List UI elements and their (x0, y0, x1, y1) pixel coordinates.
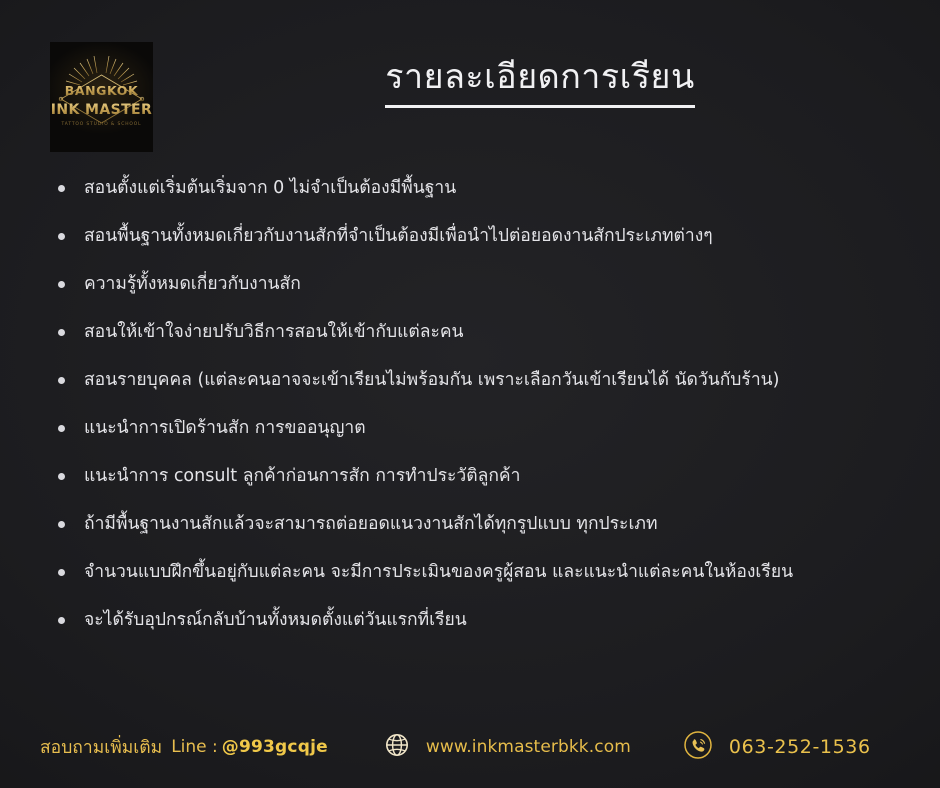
poster-footer: สอบถามเพิ่มเติม Line : @993gcqje www.ink… (0, 716, 940, 778)
bullet-dot-icon (58, 233, 65, 240)
globe-icon (384, 732, 410, 763)
logo-artwork: BANGKOK INK MASTER TATTOO STUDIO & SCHOO… (50, 42, 153, 152)
list-item: สอนรายบุคคล (แต่ละคนอาจจะเข้าเรียนไม่พร้… (52, 368, 902, 392)
list-item: สอนให้เข้าใจง่ายปรับวิธีการสอนให้เข้ากับ… (52, 320, 902, 344)
bullet-dot-icon (58, 281, 65, 288)
list-item-text: จำนวนแบบฝึกขึ้นอยู่กับแต่ละคน จะมีการประ… (84, 562, 793, 582)
bullet-dot-icon (58, 329, 65, 336)
bullet-dot-icon (58, 521, 65, 528)
bullet-dot-icon (58, 569, 65, 576)
list-item: แนะนำการ consult ลูกค้าก่อนการสัก การทำป… (52, 464, 902, 488)
list-item: ความรู้ทั้งหมดเกี่ยวกับงานสัก (52, 272, 902, 296)
bullet-dot-icon (58, 617, 65, 624)
website-url[interactable]: www.inkmasterbkk.com (410, 737, 631, 757)
bullet-dot-icon (58, 473, 65, 480)
page-title: รายละเอียดการเรียน (385, 56, 694, 108)
contact-label: สอบถามเพิ่มเติม (40, 733, 162, 761)
list-item-text: แนะนำการ consult ลูกค้าก่อนการสัก การทำป… (84, 466, 520, 486)
phone-group[interactable]: 063-252-1536 (683, 730, 871, 765)
bullet-dot-icon (58, 425, 65, 432)
list-item: สอนพื้นฐานทั้งหมดเกี่ยวกับงานสักที่จำเป็… (52, 224, 902, 248)
phone-number[interactable]: 063-252-1536 (713, 736, 871, 758)
list-item-text: ความรู้ทั้งหมดเกี่ยวกับงานสัก (84, 274, 301, 294)
list-item: แนะนำการเปิดร้านสัก การขออนุญาต (52, 416, 902, 440)
title-container: รายละเอียดการเรียน (180, 56, 900, 108)
list-item-text: สอนพื้นฐานทั้งหมดเกี่ยวกับงานสักที่จำเป็… (84, 226, 713, 246)
brand-logo: BANGKOK INK MASTER TATTOO STUDIO & SCHOO… (50, 42, 153, 152)
course-details-list: สอนตั้งแต่เริ่มต้นเริ่มจาก 0 ไม่จำเป็นต้… (52, 176, 902, 656)
phone-call-icon (683, 730, 713, 765)
list-item-text: สอนตั้งแต่เริ่มต้นเริ่มจาก 0 ไม่จำเป็นต้… (84, 178, 456, 198)
logo-line2-text: INK MASTER (51, 102, 152, 118)
list-item: จะได้รับอุปกรณ์กลับบ้านทั้งหมดตั้งแต่วัน… (52, 608, 902, 632)
bullet-dot-icon (58, 377, 65, 384)
list-item: ถ้ามีพื้นฐานงานสักแล้วจะสามารถต่อยอดแนวง… (52, 512, 902, 536)
logo-tagline-text: TATTOO STUDIO & SCHOOL (61, 121, 142, 127)
poster-header: BANGKOK INK MASTER TATTOO STUDIO & SCHOO… (0, 0, 940, 160)
list-item-text: แนะนำการเปิดร้านสัก การขออนุญาต (84, 418, 366, 438)
line-handle[interactable]: @993gcqje (218, 737, 328, 757)
line-label: Line : (162, 737, 218, 757)
list-item-text: ถ้ามีพื้นฐานงานสักแล้วจะสามารถต่อยอดแนวง… (84, 514, 658, 534)
logo-line1-text: BANGKOK (65, 83, 139, 98)
line-contact-group: สอบถามเพิ่มเติม Line : @993gcqje (40, 733, 328, 761)
list-item-text: สอนให้เข้าใจง่ายปรับวิธีการสอนให้เข้ากับ… (84, 322, 464, 342)
bullet-dot-icon (58, 185, 65, 192)
list-item: สอนตั้งแต่เริ่มต้นเริ่มจาก 0 ไม่จำเป็นต้… (52, 176, 902, 200)
list-item-text: จะได้รับอุปกรณ์กลับบ้านทั้งหมดตั้งแต่วัน… (84, 610, 467, 630)
list-item-text: สอนรายบุคคล (แต่ละคนอาจจะเข้าเรียนไม่พร้… (84, 370, 779, 390)
list-item: จำนวนแบบฝึกขึ้นอยู่กับแต่ละคน จะมีการประ… (52, 560, 902, 584)
website-group[interactable]: www.inkmasterbkk.com (384, 732, 631, 763)
poster-root: BANGKOK INK MASTER TATTOO STUDIO & SCHOO… (0, 0, 940, 788)
